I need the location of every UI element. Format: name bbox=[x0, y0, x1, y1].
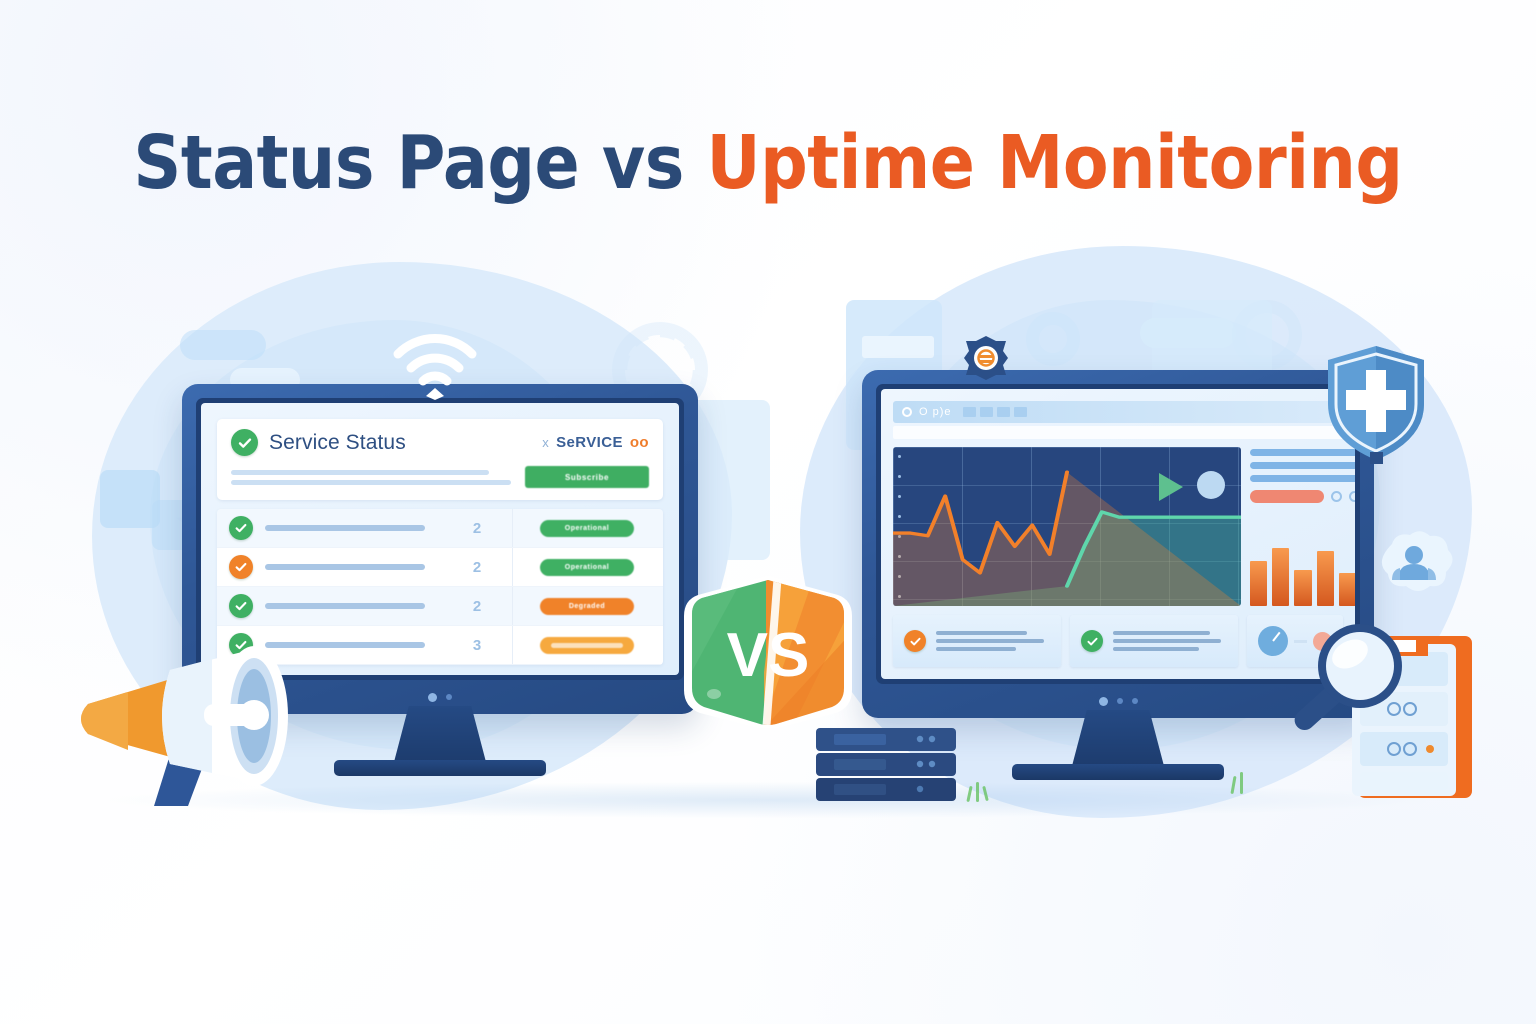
gear-icon-bg-1 bbox=[1026, 312, 1080, 366]
bar bbox=[1272, 548, 1289, 606]
status-badge: Operational bbox=[540, 559, 634, 576]
dashboard-subbar bbox=[893, 426, 1343, 439]
alert-pill-row bbox=[1250, 490, 1355, 503]
dashboard-topbar-blocks bbox=[963, 407, 1027, 417]
gear-badge-icon bbox=[962, 334, 1010, 382]
cloud-icon-bg-1 bbox=[180, 330, 266, 360]
avatar-badge-icon bbox=[1372, 530, 1456, 606]
chart-series-svg bbox=[893, 447, 1241, 606]
check-circle-icon bbox=[231, 429, 258, 456]
illustration-canvas: Status Page vs Uptime Monitoring bbox=[0, 0, 1536, 1024]
dashboard-topbar: O p)e bbox=[893, 401, 1343, 423]
puzzle-piece-icon-bg bbox=[100, 470, 160, 528]
right-monitor-screen: O p)e bbox=[881, 389, 1355, 679]
dashboard-status-cards bbox=[893, 615, 1343, 667]
status-page-subtext bbox=[231, 470, 511, 485]
shield-cross-icon bbox=[1322, 342, 1430, 464]
subscribe-button[interactable]: Subscribe bbox=[525, 466, 649, 488]
monitoring-dashboard-app: O p)e bbox=[881, 389, 1355, 679]
dashboard-main-row bbox=[893, 447, 1343, 606]
bar-chart bbox=[1250, 534, 1355, 606]
table-row[interactable]: 2 Operational bbox=[217, 509, 663, 548]
right-monitor-stand-base bbox=[1012, 764, 1224, 780]
left-monitor-stand-neck bbox=[394, 706, 486, 762]
status-badge bbox=[540, 637, 634, 654]
status-badge: Degraded bbox=[540, 598, 634, 615]
left-monitor-stand-base bbox=[334, 760, 546, 776]
magnifier-icon bbox=[1286, 614, 1414, 746]
check-circle-icon bbox=[229, 555, 253, 579]
document-card-bg-2 bbox=[862, 336, 934, 358]
table-row[interactable]: 2 Operational bbox=[217, 548, 663, 587]
check-circle-icon bbox=[229, 594, 253, 618]
check-circle-icon bbox=[229, 516, 253, 540]
ground-shadow bbox=[110, 782, 1426, 818]
vs-badge-label: VS bbox=[727, 621, 810, 690]
bar bbox=[1317, 551, 1334, 606]
status-dot-icon bbox=[1197, 471, 1225, 499]
status-card[interactable] bbox=[1070, 615, 1238, 667]
row-number: 3 bbox=[454, 637, 500, 654]
row-number: 2 bbox=[454, 559, 500, 576]
status-page-brand: x SeRVICE oo bbox=[542, 434, 649, 451]
bar bbox=[1294, 570, 1311, 606]
brand-x: x bbox=[542, 435, 549, 450]
status-card[interactable] bbox=[893, 615, 1061, 667]
status-page-header: Service Status x SeRVICE oo bbox=[217, 419, 663, 500]
check-circle-icon bbox=[1081, 630, 1103, 652]
row-number: 2 bbox=[454, 598, 500, 615]
right-monitor-stand-neck bbox=[1072, 710, 1164, 766]
bar bbox=[1339, 573, 1355, 606]
dashboard-topbar-text: O p)e bbox=[919, 406, 952, 418]
page-title-right: Uptime Monitoring bbox=[707, 120, 1403, 206]
bar bbox=[1250, 561, 1267, 606]
brand-suffix: oo bbox=[630, 434, 649, 451]
megaphone-icon bbox=[62, 630, 302, 812]
status-badge: Operational bbox=[540, 520, 634, 537]
page-title-left: Status Page vs bbox=[133, 120, 706, 206]
vs-badge: VS bbox=[684, 576, 852, 728]
server-stack-icon bbox=[812, 726, 960, 804]
gauge-icon bbox=[1258, 626, 1288, 656]
play-triangle-icon bbox=[1159, 473, 1183, 501]
dashboard-side-panel bbox=[1250, 447, 1355, 606]
table-row[interactable]: 2 Degraded bbox=[217, 587, 663, 626]
uptime-chart bbox=[893, 447, 1241, 606]
brand-name: SeRVICE bbox=[556, 434, 623, 451]
status-page-title: Service Status bbox=[269, 431, 406, 455]
check-circle-icon bbox=[904, 630, 926, 652]
page-title: Status Page vs Uptime Monitoring bbox=[0, 120, 1536, 206]
alert-pill bbox=[1250, 490, 1324, 503]
status-ring-icon bbox=[902, 407, 912, 417]
wifi-icon bbox=[392, 330, 478, 400]
row-number: 2 bbox=[454, 520, 500, 537]
